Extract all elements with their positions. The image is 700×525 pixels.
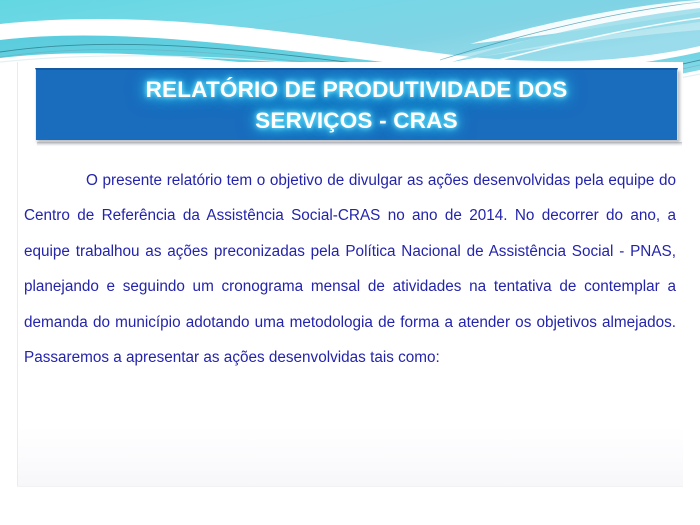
title-banner[interactable]: RELATÓRIO DE PRODUTIVIDADE DOS SERVIÇOS … <box>35 68 678 140</box>
slide-title: RELATÓRIO DE PRODUTIVIDADE DOS SERVIÇOS … <box>140 74 574 136</box>
body-paragraph: O presente relatório tem o objetivo de d… <box>24 163 676 375</box>
presentation-slide: RELATÓRIO DE PRODUTIVIDADE DOS SERVIÇOS … <box>0 0 700 525</box>
title-banner-shadow <box>37 142 682 146</box>
panel-left-rule <box>17 62 18 486</box>
